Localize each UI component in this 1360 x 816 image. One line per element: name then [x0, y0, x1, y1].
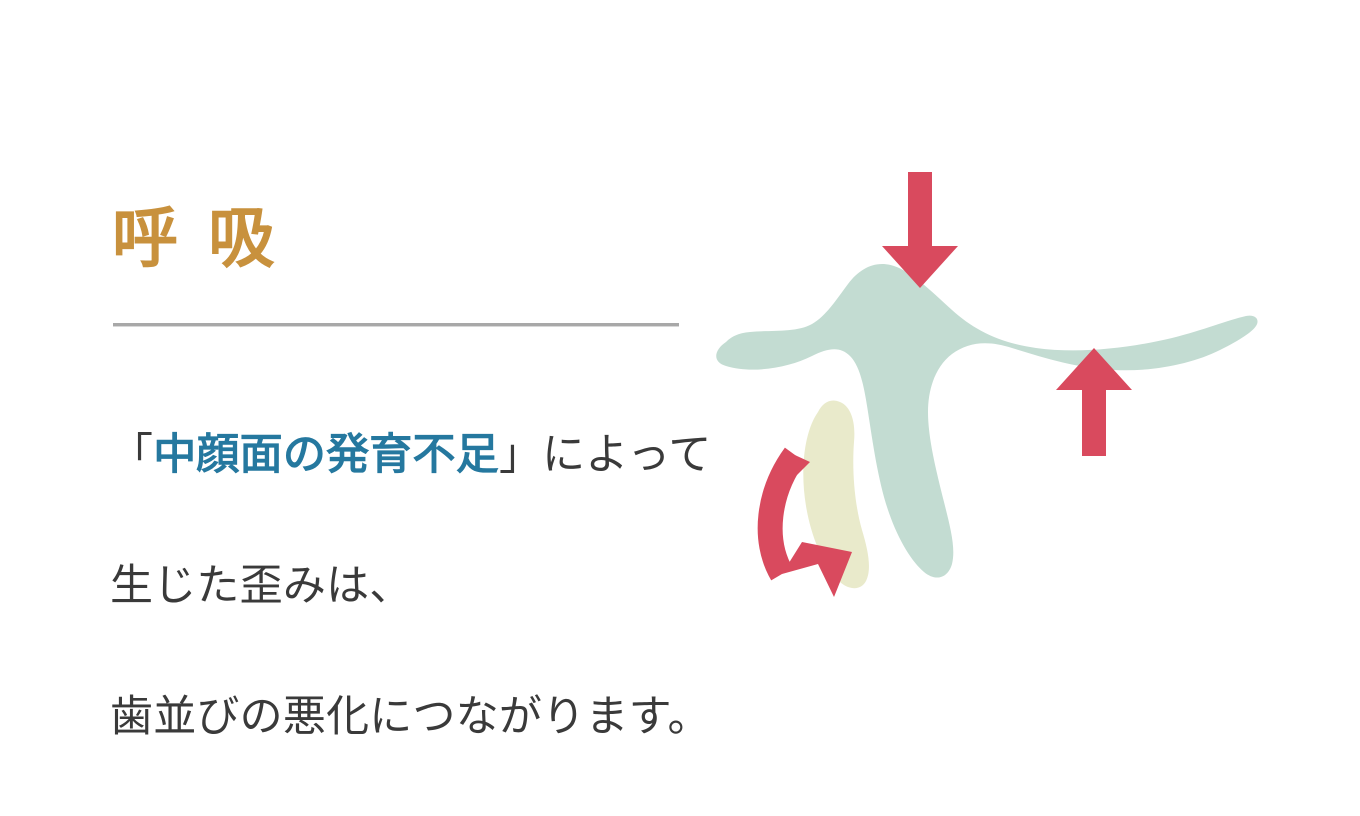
text-column: 呼 吸 — [112, 205, 712, 271]
title-divider — [113, 323, 679, 327]
body-line-1-tail: によって — [542, 431, 711, 479]
midface-airway-diagram — [700, 150, 1260, 600]
close-bracket: 」 — [499, 431, 542, 479]
body-line-3: 歯並びの悪化につながります。 — [110, 685, 810, 750]
page-title: 呼 吸 — [112, 205, 712, 271]
midface-soft-tissue-shape — [716, 264, 1257, 578]
highlighted-term: 中顔面の発育不足 — [153, 431, 499, 479]
open-bracket: 「 — [110, 431, 153, 479]
slide-canvas: 呼 吸 「中顔面の発育不足」によって 生じた歪みは、 歯並びの悪化につながります… — [0, 0, 1360, 768]
